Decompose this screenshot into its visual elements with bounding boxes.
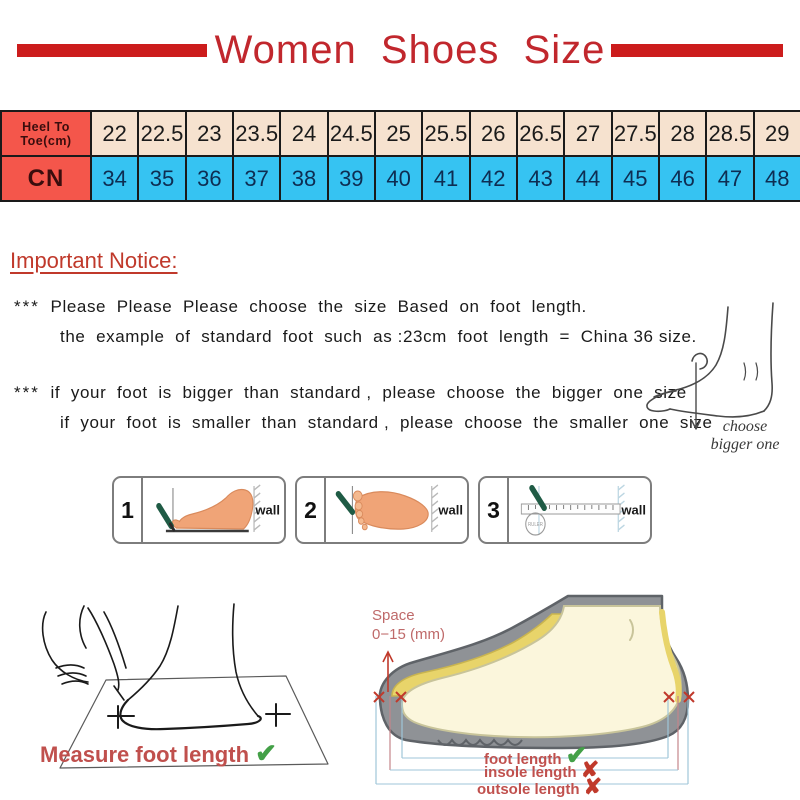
notice-text: if your foot is bigger than standard , p… [51,383,687,402]
page-title: Women Shoes Size [215,28,606,73]
cell-cn: 34 [91,156,138,201]
wall-label: wall [621,503,646,518]
step-panel-3: 3 RULER wall [478,476,652,544]
measure-caption: Measure foot length ✔ [40,738,277,769]
notice-block-2: *** if your foot is bigger than standard… [14,378,713,438]
space-label: Space 0−15 (mm) [372,606,445,644]
step-panel-2: 2 wall [295,476,469,544]
cell-cm: 24.5 [328,111,375,156]
cell-cn: 42 [470,156,517,201]
step-illustration-top-foot: wall [326,478,467,542]
asterisk-marker: *** [14,297,40,316]
measure-caption-text: Measure foot length [40,742,249,767]
size-conversion-table: Heel To Toe(cm) 22 22.5 23 23.5 24 24.5 … [0,110,800,202]
cell-cm: 23 [186,111,233,156]
cell-cm: 28 [659,111,706,156]
cell-cm: 26.5 [517,111,564,156]
notice-line: *** Please Please Please choose the size… [14,292,697,322]
notice-heading: Important Notice: [10,248,178,274]
asterisk-marker: *** [14,383,40,402]
wall-label: wall [438,503,463,518]
table-row-heel-to-toe: Heel To Toe(cm) 22 22.5 23 23.5 24 24.5 … [1,111,800,156]
cell-cm: 24 [280,111,327,156]
cell-cn: 45 [612,156,659,201]
cell-cn: 39 [328,156,375,201]
step-illustration-ruler: RULER wall [509,478,650,542]
cell-cm: 27.5 [612,111,659,156]
wall-label: wall [255,503,280,518]
cell-cm: 29 [754,111,800,156]
row-label-heel-to-toe: Heel To Toe(cm) [1,111,91,156]
notice-line: if your foot is smaller than standard , … [14,408,713,438]
cell-cn: 44 [564,156,611,201]
measurement-label: outsole length [477,781,580,798]
notice-block-1: *** Please Please Please choose the size… [14,292,697,352]
cell-cm: 27 [564,111,611,156]
cell-cn: 48 [754,156,800,201]
title-bar-left [17,44,207,57]
cell-cn: 46 [659,156,706,201]
cell-cn: 35 [138,156,185,201]
step-illustration-side-foot: wall [143,478,284,542]
cell-cn: 40 [375,156,422,201]
notice-line: the example of standard foot such as :23… [14,322,697,352]
cell-cm: 26 [470,111,517,156]
step-number: 1 [114,478,143,542]
cell-cm: 25 [375,111,422,156]
cell-cm: 28.5 [706,111,753,156]
title-bar-right [611,44,783,57]
notice-text: Please Please Please choose the size Bas… [51,297,587,316]
foot-sketch-caption: choose bigger one [690,418,800,454]
cross-icon: ✘ [584,774,602,799]
step-number: 2 [297,478,326,542]
svg-text:RULER: RULER [528,522,543,527]
cell-cn: 37 [233,156,280,201]
cell-cm: 22 [91,111,138,156]
check-icon: ✔ [255,738,277,768]
measuring-steps: 1 wall 2 [112,476,652,544]
cell-cn: 47 [706,156,753,201]
step-panel-1: 1 wall [112,476,286,544]
cell-cm: 23.5 [233,111,280,156]
cell-cn: 36 [186,156,233,201]
cell-cn: 43 [517,156,564,201]
notice-line: *** if your foot is bigger than standard… [14,378,713,408]
cell-cm: 25.5 [422,111,469,156]
step-number: 3 [480,478,509,542]
table-row-cn: CN 34 35 36 37 38 39 40 41 42 43 44 45 4… [1,156,800,201]
title-band: Women Shoes Size [0,0,800,100]
measurement-outsole-length: outsole length ✘ [477,774,602,800]
cell-cn: 38 [280,156,327,201]
cell-cn: 41 [422,156,469,201]
cell-cm: 22.5 [138,111,185,156]
row-label-cn: CN [1,156,91,201]
